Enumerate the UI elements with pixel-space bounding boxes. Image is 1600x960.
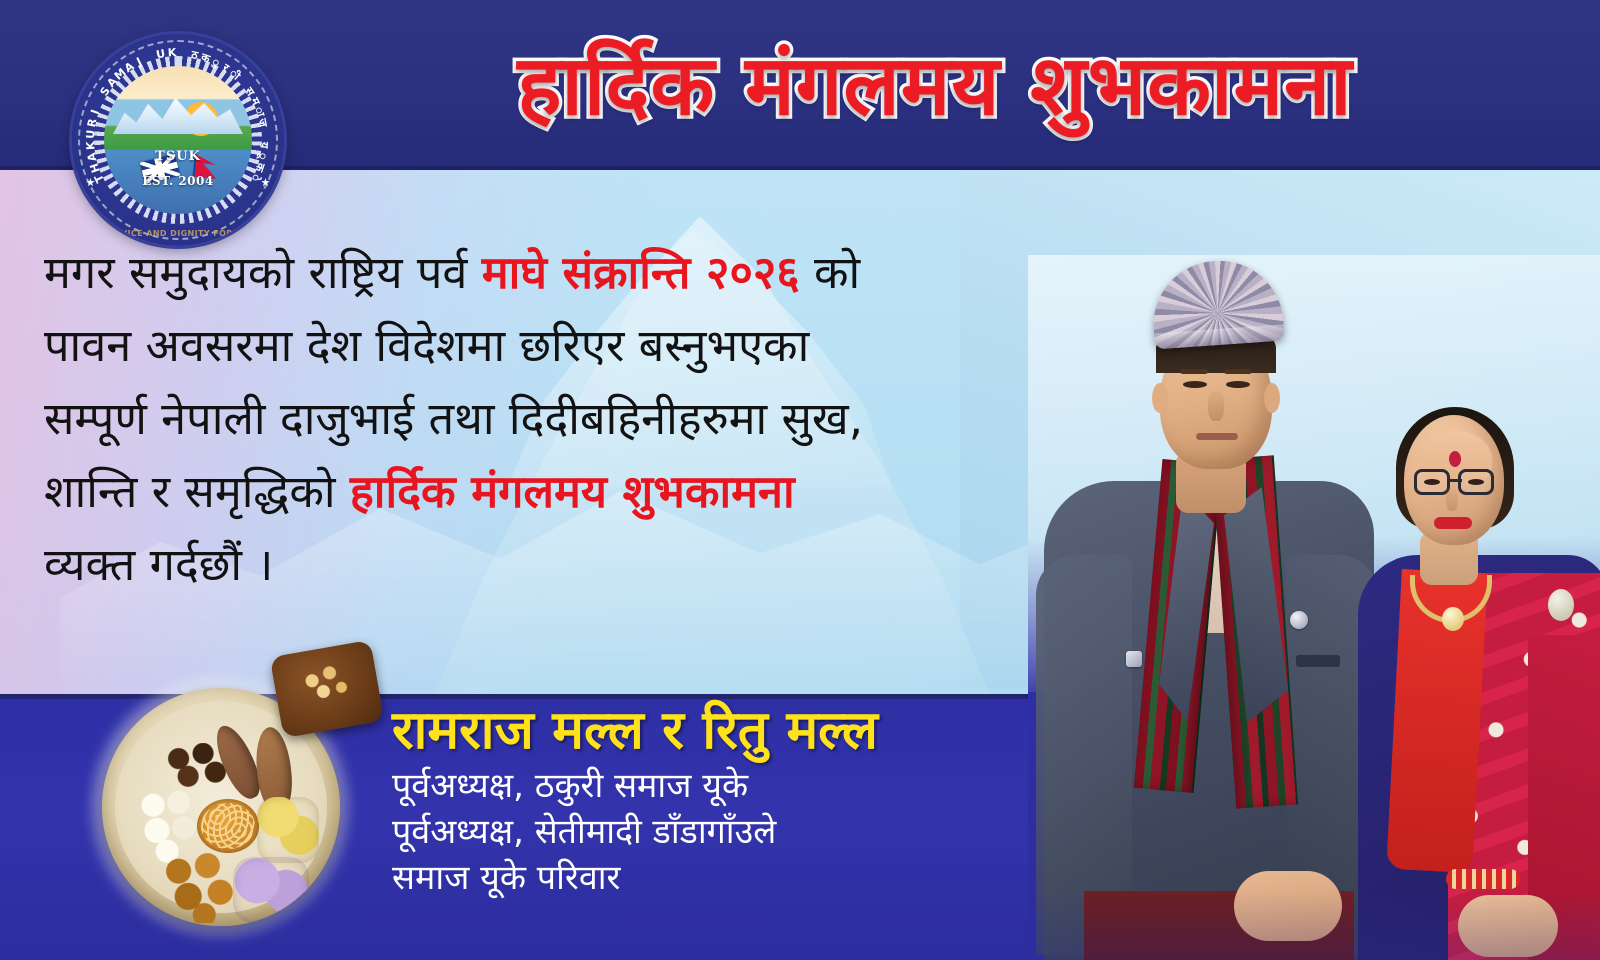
man-ear-right (1264, 383, 1280, 413)
message-line-4-highlight: हार्दिक मंगलमय शुभकामना (350, 465, 795, 518)
woman-eye-right (1468, 479, 1484, 485)
message-line-4: शान्ति र समृद्धिको हार्दिक मंगलमय शुभकाम… (44, 455, 1054, 528)
food-chaku-icon (270, 640, 385, 738)
greeting-poster: हार्दिक मंगलमय शुभकामना TSUK EST. 2004 T… (0, 0, 1600, 960)
message-line-1-highlight: माघे संक्रान्ति २०२६ (482, 246, 800, 299)
man-ear-left (1152, 383, 1168, 413)
man-eye-right (1226, 381, 1250, 388)
man-nose (1208, 391, 1224, 421)
food-yellow-yam-icon (257, 797, 319, 863)
signature-role-1: पूर्वअध्यक्ष, ठकुरी समाज यूके (392, 763, 1032, 809)
thakuri-samaj-uk-logo: TSUK EST. 2004 THAKURI SAMAJ UK ठकुरी सम… (72, 34, 284, 246)
woman-glasses-bridge (1448, 479, 1462, 482)
food-yam-pieces-icon (139, 789, 203, 863)
message-line-1: मगर समुदायको राष्ट्रिय पर्व माघे संक्रान… (44, 236, 1054, 309)
food-peanut-brittle-icon (161, 853, 241, 923)
woman-bangles (1446, 869, 1520, 889)
logo-arc-text: THAKURI SAMAJ UK ठकुरी समाज यूके (72, 34, 284, 246)
woman-pendant (1442, 607, 1464, 631)
couple-portrait-photo (1028, 255, 1600, 960)
greeting-message: मगर समुदायको राष्ट्रिय पर्व माघे संक्रान… (44, 236, 1054, 601)
message-line-1-part-b: को (800, 246, 861, 299)
man-eyebrow-left (1180, 369, 1208, 374)
signature-block: रामराज मल्ल र रितु मल्ल पूर्वअध्यक्ष, ठक… (392, 700, 1032, 901)
man-lapel-pin-right (1290, 611, 1308, 629)
message-line-4-part-a: शान्ति र समृद्धिको (44, 465, 350, 518)
woman-brooch (1548, 589, 1574, 621)
woman-bindi-icon (1449, 451, 1461, 467)
maghe-sankranti-food-bowl (80, 640, 390, 940)
photo-bottom-fade (1028, 890, 1600, 960)
signature-role-3: समाज यूके परिवार (392, 855, 1032, 901)
food-sesame-laddu-icon (197, 799, 259, 853)
man-eye-left (1183, 381, 1207, 388)
man-lapel-pin-left (1126, 651, 1142, 667)
signature-name: रामराज मल्ल र रितु मल्ल (392, 700, 1032, 763)
woman-nose (1446, 487, 1458, 511)
message-line-1-part-a: मगर समुदायको राष्ट्रिय पर्व (44, 246, 482, 299)
message-line-5: व्यक्त गर्दछौं । (44, 528, 1054, 601)
page-title: हार्दिक मंगलमय शुभकामना (330, 26, 1540, 146)
man-eyebrow-right (1224, 369, 1252, 374)
woman-mouth (1434, 517, 1472, 529)
man-mouth (1196, 433, 1238, 440)
food-purple-yam-icon (233, 857, 309, 923)
woman-eye-left (1424, 479, 1440, 485)
message-line-3: सम्पूर्ण नेपाली दाजुभाई तथा दिदीबहिनीहरु… (44, 382, 1054, 455)
signature-role-2: पूर्वअध्यक्ष, सेतीमादी डाँडागाँउले (392, 809, 1032, 855)
man-suit-pocket (1296, 655, 1340, 667)
message-line-2: पावन अवसरमा देश विदेशमा छरिएर बस्नुभएका (44, 309, 1054, 382)
